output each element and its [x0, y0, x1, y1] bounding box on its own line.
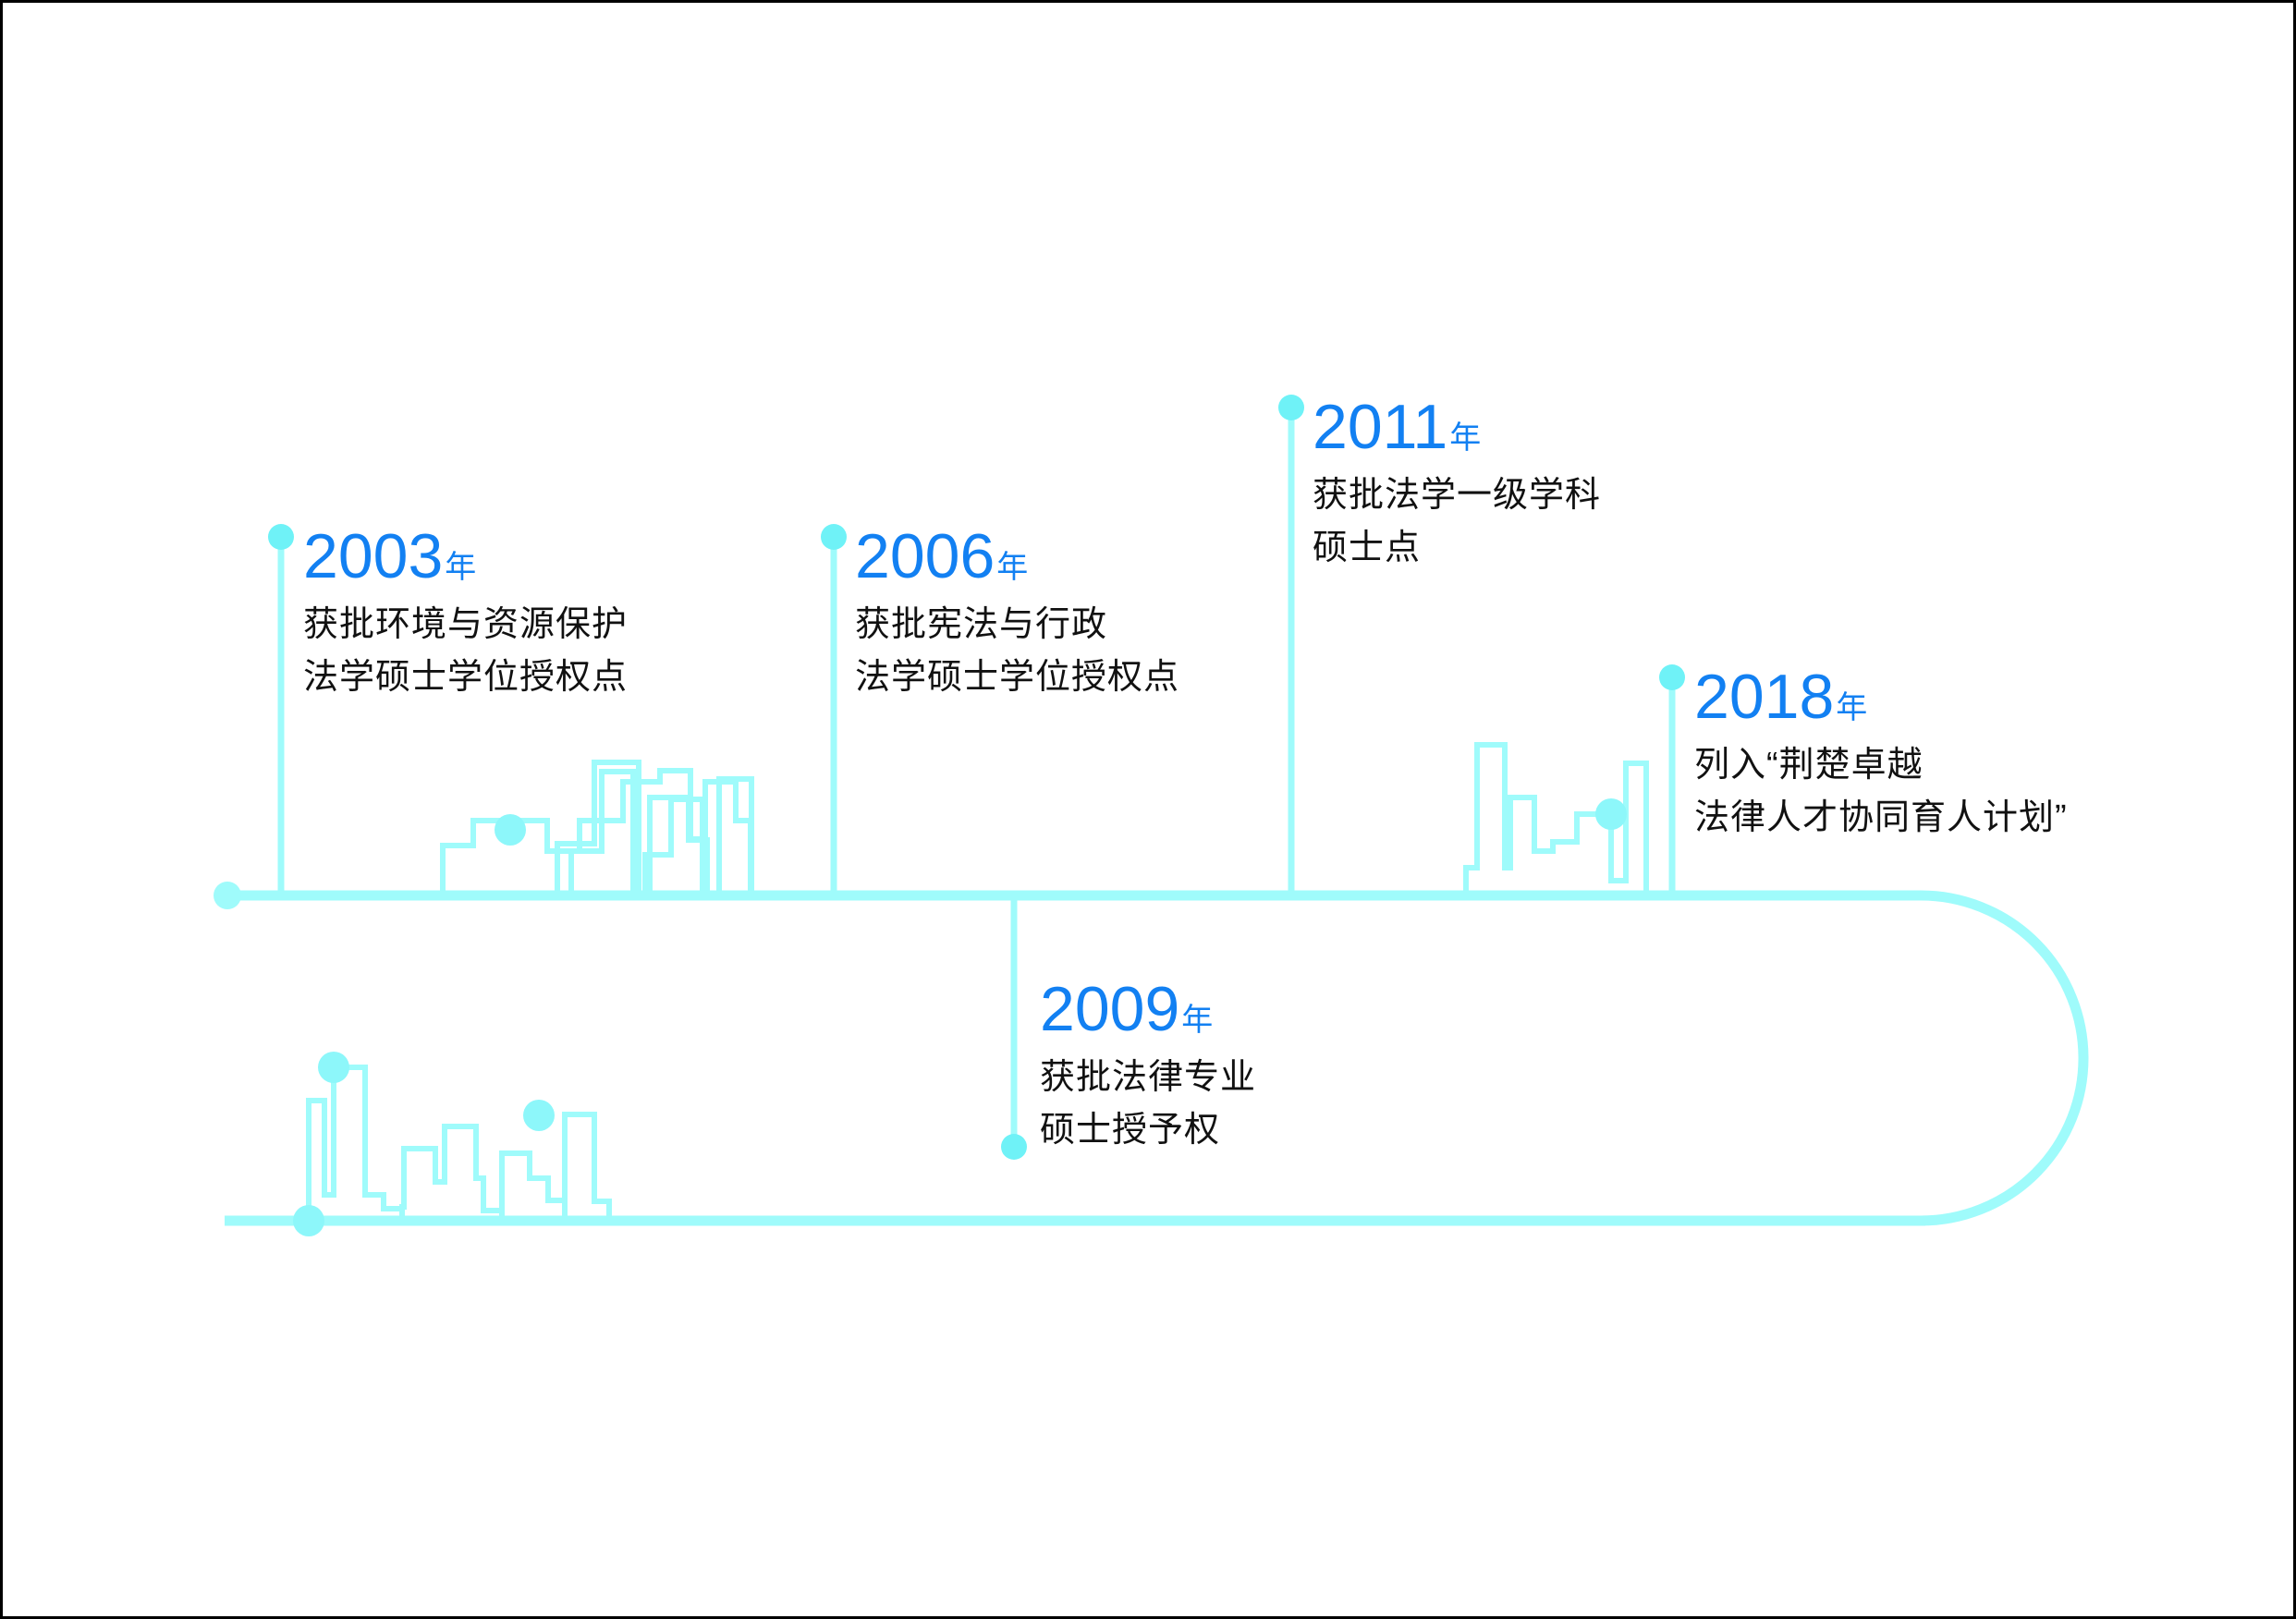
milestone-2006-desc-line2: 法学硕士学位授权点	[855, 651, 1179, 704]
milestone-2009-year-line: 2009年	[1040, 978, 1256, 1041]
milestone-2009: 2009年 获批法律专业 硕士授予权	[1040, 978, 1256, 1157]
milestone-dot-2018	[1659, 664, 1685, 690]
timeline-u-turn	[1921, 895, 2083, 1221]
milestone-dot-2003	[268, 524, 294, 550]
milestone-2006-year: 2006	[855, 521, 995, 591]
skyline-lower-left	[309, 1067, 609, 1221]
milestone-2011-desc-line2: 硕士点	[1313, 522, 1601, 575]
milestone-2011-desc-line1: 获批法学一级学科	[1313, 469, 1601, 522]
milestone-2006: 2006年 获批宪法与行政 法学硕士学位授权点	[855, 525, 1179, 704]
timeline-infographic: 2003年 获批环境与资源保护 法学硕士学位授权点 2006年 获批宪法与行政 …	[0, 0, 2296, 1619]
milestone-2003-desc-line2: 法学硕士学位授权点	[303, 651, 628, 704]
milestone-2009-year: 2009	[1040, 974, 1179, 1044]
milestone-2018-year: 2018	[1694, 662, 1834, 732]
milestone-2011-year-suffix: 年	[1449, 420, 1481, 456]
milestone-2006-desc-line1: 获批宪法与行政	[855, 599, 1179, 651]
milestone-2011: 2011年 获批法学一级学科 硕士点	[1313, 396, 1601, 575]
milestone-2003-year: 2003	[303, 521, 443, 591]
skyline-dot-lower-b	[523, 1100, 555, 1131]
milestone-2003-desc-line1: 获批环境与资源保护	[303, 599, 628, 651]
skyline-dot-upper-left	[495, 814, 526, 846]
skyline-dot-2018	[1595, 798, 1627, 830]
milestone-dot-2006	[821, 524, 847, 550]
milestone-2003: 2003年 获批环境与资源保护 法学硕士学位授权点	[303, 525, 628, 704]
milestone-2018-desc-line2: 法律人才协同育人计划”	[1694, 792, 2068, 845]
skyline-dot-lower-base	[293, 1205, 324, 1236]
milestone-2018-desc-line1: 列入“荆楚卓越	[1694, 739, 2068, 792]
milestone-2003-year-line: 2003年	[303, 525, 628, 588]
milestone-2006-year-line: 2006年	[855, 525, 1179, 588]
milestone-2009-desc-line2: 硕士授予权	[1040, 1104, 1256, 1157]
milestone-dot-2009	[1001, 1134, 1027, 1160]
milestone-2011-year-line: 2011年	[1313, 396, 1601, 458]
milestone-2018-year-line: 2018年	[1694, 665, 2068, 728]
milestone-2009-year-suffix: 年	[1181, 1003, 1213, 1038]
milestone-2003-year-suffix: 年	[445, 550, 476, 585]
milestone-dot-2011	[1278, 395, 1304, 420]
milestone-2018-year-suffix: 年	[1836, 690, 1867, 725]
milestone-2011-year: 2011	[1313, 392, 1447, 462]
milestone-2018: 2018年 列入“荆楚卓越 法律人才协同育人计划”	[1694, 665, 2068, 845]
timeline-start-dot	[214, 882, 241, 909]
skyline-dot-lower-a	[318, 1052, 349, 1083]
milestone-2009-desc-line1: 获批法律专业	[1040, 1052, 1256, 1104]
milestone-2006-year-suffix: 年	[996, 550, 1028, 585]
